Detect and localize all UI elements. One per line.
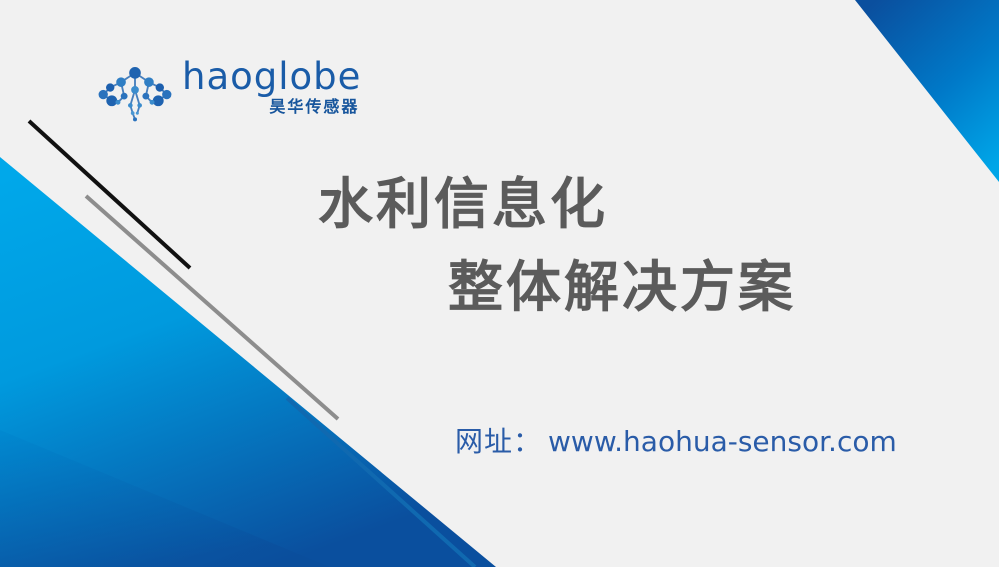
website-url[interactable]: 网址： www.haohua-sensor.com bbox=[455, 420, 897, 460]
black-diagonal-line bbox=[29, 121, 190, 268]
website-url-value[interactable]: www.haohua-sensor.com bbox=[548, 425, 897, 458]
presentation-slide: haoglobe 昊华传感器 水利信息化 整体解决方案 网址： www.haoh… bbox=[0, 0, 999, 567]
title-line-2: 整体解决方案 bbox=[300, 246, 920, 329]
bottom-blue-wedge bbox=[0, 430, 330, 567]
top-right-blue-triangle bbox=[855, 0, 999, 182]
website-url-label: 网址： bbox=[455, 420, 542, 460]
slide-title: 水利信息化 整体解决方案 bbox=[300, 163, 920, 328]
haoglobe-network-nodes-icon bbox=[96, 62, 174, 124]
logo-subtitle: 昊华传感器 bbox=[269, 99, 359, 115]
logo-text-group: haoglobe 昊华传感器 bbox=[182, 58, 361, 115]
logo-wordmark: haoglobe bbox=[182, 58, 361, 96]
blue-diagonal-line bbox=[287, 398, 475, 567]
title-line-1: 水利信息化 bbox=[300, 163, 920, 246]
company-logo: haoglobe 昊华传感器 bbox=[96, 58, 361, 124]
